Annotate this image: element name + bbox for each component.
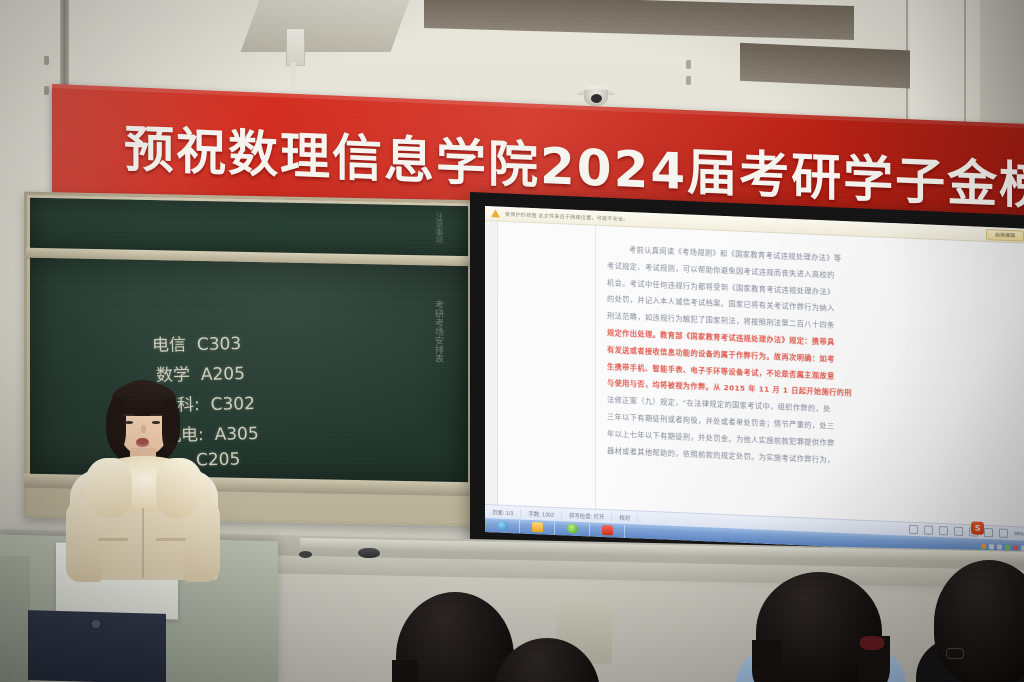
view-layout-icon[interactable] (924, 525, 933, 534)
audience-glasses-icon (946, 648, 964, 659)
speaker-eye-right (152, 421, 160, 424)
status-spellcheck[interactable]: 拼写检查: 打开 (562, 511, 612, 521)
speaker-hair-left (108, 398, 126, 450)
wall-fitting-1 (686, 60, 691, 69)
speaker-brow-right (150, 414, 161, 416)
speaker-mouth (136, 438, 149, 447)
ceiling-slab-left (241, 0, 410, 52)
computer-mouse (358, 548, 380, 558)
speaker-hair-right (162, 398, 180, 452)
speaker-coat-pocket-right (156, 538, 186, 541)
wall-fitting-2 (686, 76, 691, 85)
folder-icon[interactable] (520, 520, 555, 534)
warning-triangle-icon (491, 209, 500, 217)
protected-view-text: 受保护的视图 此文件来自于网络位置，可能不安全。 (505, 210, 629, 222)
speaker-coat-zipper (142, 508, 144, 578)
pipe-bolt-2 (44, 86, 49, 95)
status-word-count[interactable]: 字数: 1302 (521, 509, 562, 519)
lectern-panel-indicator-icon (92, 620, 100, 628)
document-text-body: 考前认真阅读《考场规则》和《国家教育考试违规处理办法》等 考试规定、考试规则，可… (607, 241, 1012, 476)
tray-icon-3[interactable] (997, 544, 1002, 549)
blackboard-side-note-2: 注意事项 (434, 212, 445, 244)
tray-icon-2[interactable] (989, 544, 994, 549)
fullscreen-icon[interactable] (999, 529, 1008, 538)
enable-editing-button[interactable]: 启用编辑 (986, 228, 1024, 241)
camera-lens-icon (591, 94, 602, 103)
status-view-mode[interactable]: 校对 (612, 513, 638, 522)
zoom-level[interactable]: 98% (1014, 531, 1024, 537)
wps-icon[interactable] (590, 523, 625, 537)
ime-indicator[interactable]: S (971, 521, 984, 535)
speaker-brow-left (124, 414, 135, 416)
desk-object (299, 551, 312, 558)
audience-hair-3 (752, 640, 782, 682)
view-web-icon[interactable] (939, 526, 948, 535)
blackboard-side-note: 考研考场安排表 (432, 300, 445, 363)
document-margin-line (595, 225, 596, 517)
status-page[interactable]: 页面: 1/3 (485, 508, 521, 518)
tray-icon-1[interactable] (981, 543, 986, 548)
tray-icon-4[interactable] (1005, 544, 1010, 549)
browser-icon[interactable] (555, 521, 590, 535)
wall-box-stem (290, 62, 296, 88)
projection-screen[interactable]: 受保护的视图 此文件来自于网络位置，可能不安全。 启用编辑 考前认真阅读《考场规… (485, 206, 1024, 555)
speaker-nose (141, 425, 146, 433)
audience-scarf-3 (860, 636, 884, 650)
chalk-line-1: 电信 C303 (152, 329, 242, 356)
speaker-figure (64, 378, 224, 578)
audience-hair-1 (392, 660, 418, 682)
pen-tool-icon[interactable] (984, 528, 993, 537)
dome-security-camera (578, 86, 614, 106)
lectern-left-side (0, 556, 30, 682)
speaker-fur-collar-left (84, 458, 132, 518)
view-outline-icon[interactable] (954, 527, 963, 536)
tray-icon-5[interactable] (1013, 545, 1018, 550)
classroom-photo-scene: 预祝数理信息学院2024届考研学子金榜题名 电信 C303 数学 A205 应科… (0, 0, 1024, 682)
speaker-coat-pocket-left (98, 538, 128, 541)
start-orb-icon[interactable] (485, 519, 520, 533)
wall-mounted-box (286, 28, 305, 66)
pipe-bolt-1 (44, 56, 49, 65)
view-read-icon[interactable] (909, 525, 918, 534)
speaker-eye-left (125, 421, 133, 424)
